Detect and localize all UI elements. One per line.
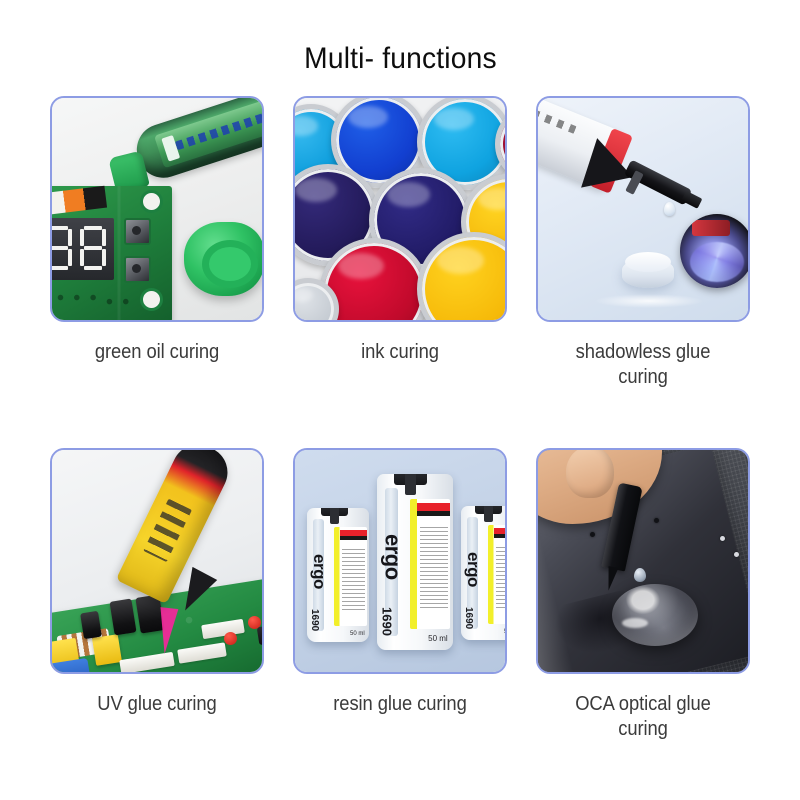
resin-cartridges-photo: ergo 1690 50 ml ergo 1690 50 ml	[295, 450, 505, 672]
model-text-left: 1690	[309, 609, 320, 631]
mounting-hole-bottom	[140, 288, 163, 311]
mounting-hole-top	[140, 190, 163, 213]
yellow-capacitor-2	[92, 634, 122, 666]
red-component-1	[224, 632, 237, 645]
thumbnail-green-oil-curing[interactable]	[50, 96, 264, 322]
feature-cell-uv-glue-curing[interactable]: UV glue curing	[50, 448, 264, 742]
caption-resin-glue-curing: resin glue curing	[308, 692, 492, 717]
green-bottle-cap-icon	[184, 222, 262, 296]
volume-text-left: 50 ml	[350, 631, 365, 637]
caption-ink-curing: ink curing	[308, 340, 492, 365]
uv-lens-icon	[680, 214, 748, 288]
pcb-photo	[52, 98, 262, 320]
cartridge-label-right	[488, 525, 505, 624]
feature-cell-ink-curing[interactable]: ink curing	[293, 96, 507, 390]
thumbnail-ink-curing[interactable]	[293, 96, 507, 322]
caption-oca-optical-glue-curing: OCA optical glue curing	[551, 692, 735, 742]
page-title: Multi- functions	[304, 44, 497, 74]
oca-droplet-photo	[538, 450, 748, 672]
feature-cell-resin-glue-curing[interactable]: ergo 1690 50 ml ergo 1690 50 ml	[293, 448, 507, 742]
resin-cartridge-center: ergo 1690 50 ml	[377, 474, 453, 650]
screen-speck-4	[734, 552, 739, 557]
cartridge-plunger-left	[321, 508, 348, 516]
screen-speck-2	[654, 518, 659, 523]
uv-glue-pen-icon	[116, 450, 236, 604]
thumbnail-oca-optical-glue-curing[interactable]	[536, 448, 750, 674]
screen-speck-1	[590, 532, 595, 537]
seven-segment-display	[52, 218, 114, 280]
tactile-button-lower	[124, 256, 151, 283]
brand-text-left: ergo	[309, 554, 329, 589]
row-divider	[0, 390, 800, 426]
volume-text-center: 50 ml	[428, 634, 448, 643]
caption-uv-glue-curing: UV glue curing	[65, 692, 249, 717]
thumbnail-resin-glue-curing[interactable]: ergo 1690 50 ml ergo 1690 50 ml	[293, 448, 507, 674]
thumbnail-shadowless-glue-curing[interactable]	[536, 96, 750, 322]
solder-mask-pen-icon	[130, 98, 262, 184]
model-text-right: 1690	[463, 607, 474, 629]
cartridge-plunger-right	[475, 506, 502, 514]
volume-text-right: 50 ml	[504, 629, 505, 635]
brand-text-right: ergo	[463, 552, 483, 587]
feature-cell-shadowless-glue-curing[interactable]: shadowless glue curing	[536, 96, 750, 390]
caption-green-oil-curing: green oil curing	[65, 340, 249, 365]
ink-cans-photo	[295, 98, 505, 320]
surface-reflection	[594, 294, 704, 308]
electrolytic-capacitor-3	[80, 611, 102, 639]
feature-grid-row-2: UV glue curing ergo 1690 50 ml	[50, 448, 750, 742]
cartridge-label-center	[410, 499, 450, 629]
feature-grid-row-1: green oil curing ink curing	[50, 96, 750, 390]
finger	[566, 450, 614, 498]
resin-cartridge-left: ergo 1690 50 ml	[307, 508, 369, 642]
oca-glue-droplet-icon	[612, 584, 698, 646]
glue-drop-icon	[664, 202, 675, 216]
screen-speck-3	[720, 536, 725, 541]
cartridge-plunger-center	[394, 474, 427, 485]
brand-text-center: ergo	[379, 534, 405, 580]
digit-right	[80, 226, 106, 270]
digit-left	[52, 226, 72, 270]
tactile-button-upper	[124, 218, 151, 245]
feature-cell-green-oil-curing[interactable]: green oil curing	[50, 96, 264, 390]
glue-bottle-photo	[538, 98, 748, 320]
cartridge-label-left	[334, 527, 366, 626]
glue-puck	[622, 258, 674, 288]
resin-cartridge-right: ergo 1690 50 ml	[461, 506, 505, 640]
caption-shadowless-glue-curing: shadowless glue curing	[551, 340, 735, 390]
feature-cell-oca-optical-glue-curing[interactable]: OCA optical glue curing	[536, 448, 750, 742]
glue-bead-icon	[634, 568, 646, 582]
multi-functions-page: Multi- functions	[0, 0, 800, 800]
model-text-center: 1690	[379, 607, 394, 636]
pen-label	[154, 98, 262, 168]
thumbnail-uv-glue-curing[interactable]	[50, 448, 264, 674]
uv-pen-photo	[52, 450, 262, 672]
